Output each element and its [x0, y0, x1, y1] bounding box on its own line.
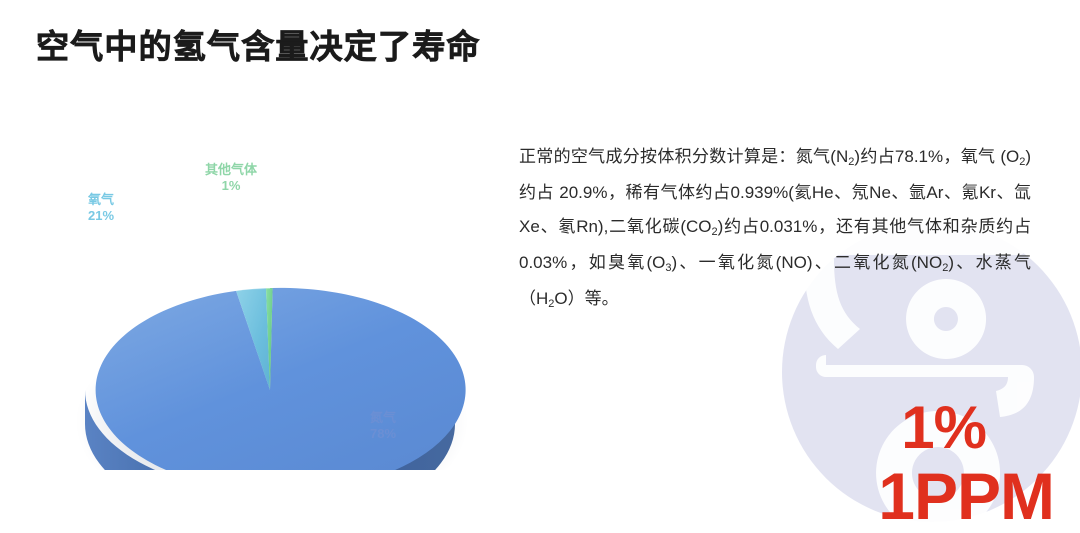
page-title: 空气中的氢气含量决定了寿命 — [36, 27, 481, 67]
pie-label-oxygen: 氧气 21% — [88, 192, 114, 225]
pie-label-other: 其他气体 1% — [205, 162, 257, 195]
pie-label-nitrogen-name: 氮气 — [370, 410, 396, 426]
pie-chart-svg — [40, 140, 500, 470]
pie-label-oxygen-name: 氧气 — [88, 192, 114, 208]
callout-percent: 1% — [878, 398, 986, 458]
pie-label-other-value: 1% — [205, 178, 257, 194]
pie-label-nitrogen-value: 78% — [370, 426, 396, 442]
body-seg-1: 正常的空气成分按体积分数计算是：氮气(N — [519, 147, 848, 166]
body-sub-1: 2 — [848, 156, 854, 168]
body-sub-6: 2 — [548, 298, 554, 310]
body-seg-7: O）等。 — [554, 289, 618, 308]
red-callout: 1% 1PPM — [878, 398, 1054, 531]
pie-label-nitrogen: 氮气 78% — [370, 410, 396, 443]
body-sub-4: 3 — [665, 262, 671, 274]
pie-label-other-name: 其他气体 — [205, 162, 257, 178]
body-sub-2: 2 — [1019, 156, 1025, 168]
pie-label-oxygen-value: 21% — [88, 208, 114, 224]
body-paragraph: 正常的空气成分按体积分数计算是：氮气(N2)约占78.1%，氧气 (O2) 约占… — [519, 140, 1031, 318]
pie-slice-nitrogen[interactable] — [96, 288, 466, 470]
body-seg-2: )约占78.1%，氧气 (O — [854, 147, 1019, 166]
body-sub-3: 2 — [712, 226, 718, 238]
callout-ppm: 1PPM — [878, 462, 1054, 531]
body-sub-5: 2 — [942, 262, 948, 274]
pie-chart: 其他气体 1% 氧气 21% 氮气 78% — [40, 140, 500, 470]
slide-canvas: 空气中的氢气含量决定了寿命 — [0, 0, 1080, 533]
body-seg-5: )、一氧化氮(NO)、二氧化氮(NO — [671, 253, 942, 272]
